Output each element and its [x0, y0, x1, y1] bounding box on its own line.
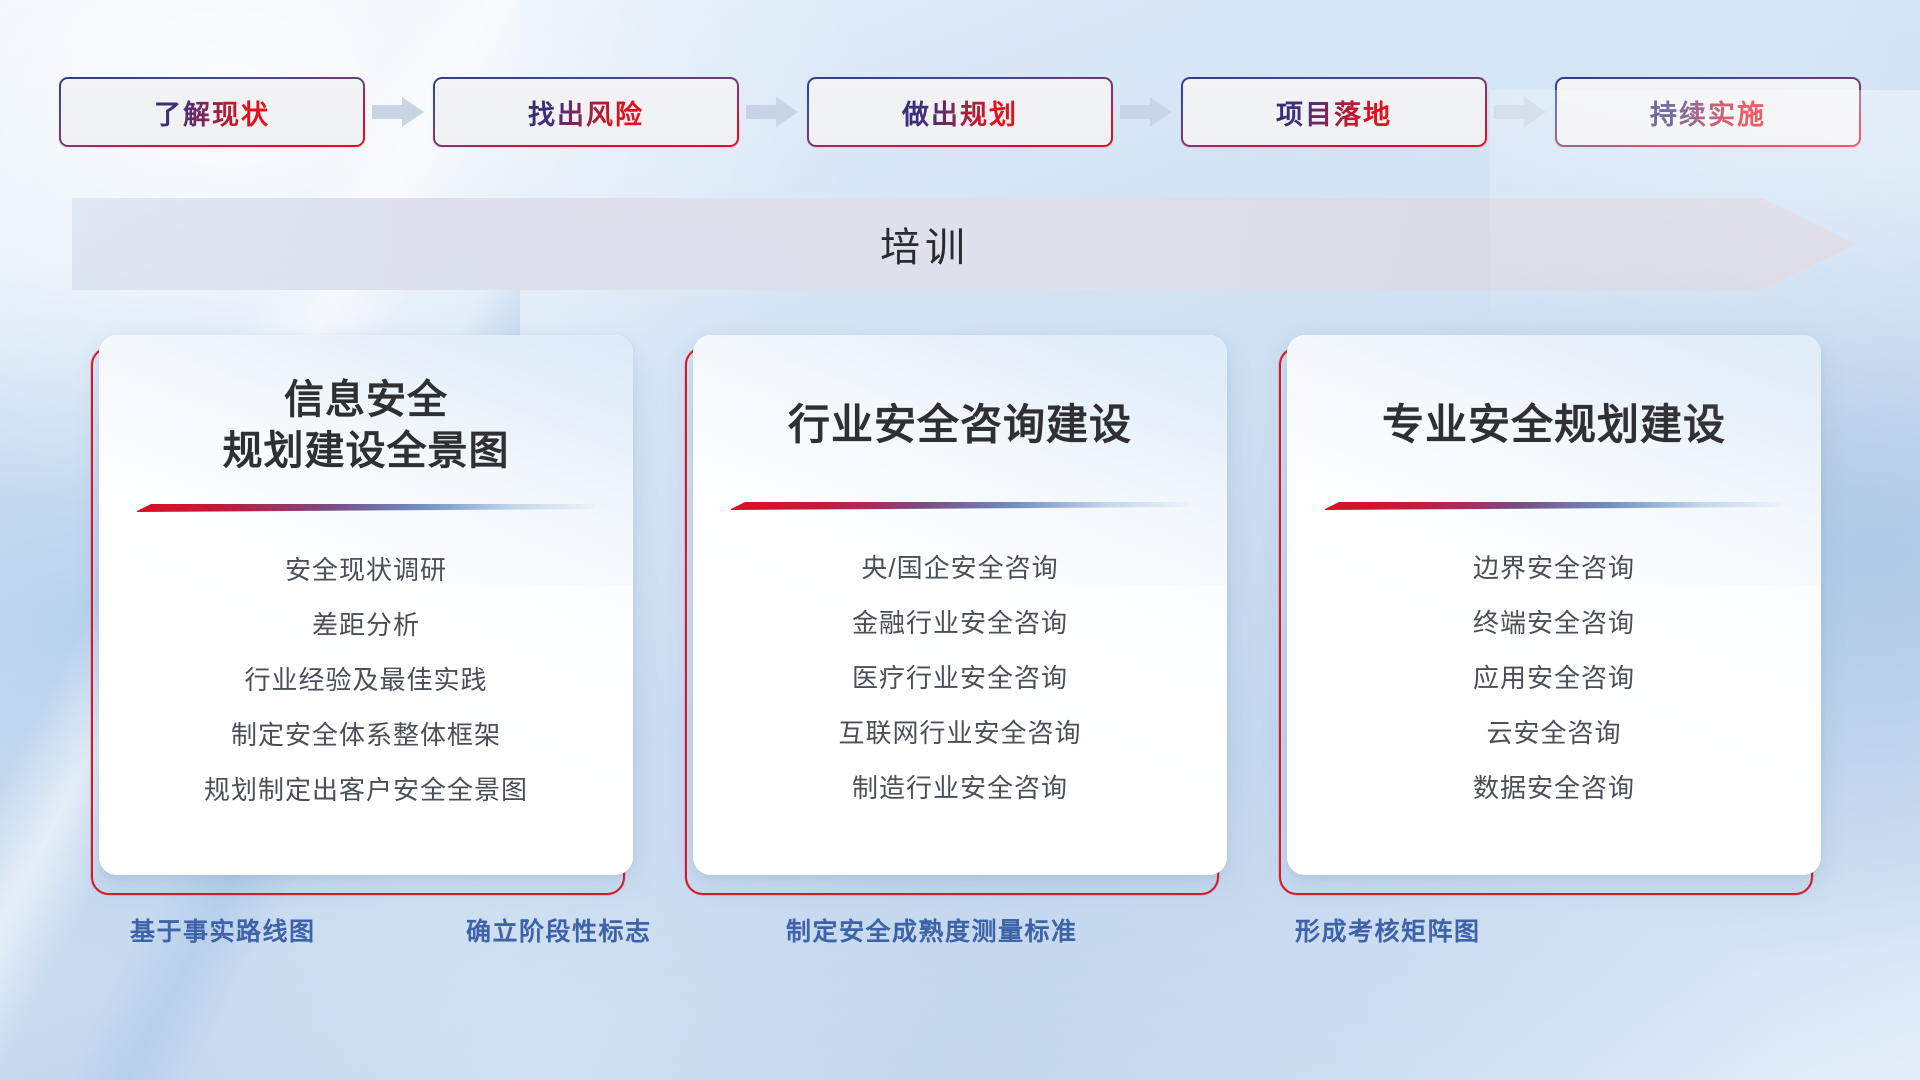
caption-roadmap: 基于事实路线图: [130, 912, 316, 948]
card-slot-1: 信息安全 规划建设全景图: [99, 335, 633, 875]
slide-canvas: 了解现状 找出风险 做出规划 项目落地: [0, 0, 1920, 1080]
card-divider: [1325, 501, 1783, 510]
process-step-4[interactable]: 项目落地: [1181, 77, 1487, 147]
card-title: 信息安全 规划建设全景图: [133, 335, 599, 477]
caption-maturity-standard: 制定安全成熟度测量标准: [786, 912, 1078, 948]
list-item[interactable]: 终端安全咨询: [1321, 603, 1787, 640]
arrow-right-icon: [1120, 95, 1174, 129]
process-step-label: 了解现状: [154, 93, 270, 132]
list-item[interactable]: 互联网行业安全咨询: [727, 713, 1193, 750]
list-item[interactable]: 制定安全体系整体框架: [133, 715, 599, 752]
process-step-label: 找出风险: [528, 93, 644, 132]
process-step-5[interactable]: 持续实施: [1555, 77, 1861, 147]
card-divider: [137, 503, 595, 512]
step-wrapper-1: 找出风险: [433, 77, 807, 147]
card-title: 专业安全规划建设: [1321, 335, 1787, 475]
caption-row: 基于事实路线图 确立阶段性标志 制定安全成熟度测量标准 形成考核矩阵图: [0, 912, 1920, 962]
process-step-3[interactable]: 做出规划: [807, 77, 1113, 147]
process-step-2[interactable]: 找出风险: [433, 77, 739, 147]
caption-assessment-matrix: 形成考核矩阵图: [1295, 912, 1481, 948]
training-banner-label: 培训: [72, 192, 1856, 296]
process-step-label: 项目落地: [1276, 93, 1392, 132]
list-item[interactable]: 差距分析: [133, 605, 599, 642]
list-item[interactable]: 规划制定出客户安全全景图: [133, 770, 599, 807]
card-title-line: 行业安全咨询建设: [727, 398, 1193, 452]
step-wrapper-2: 做出规划: [807, 77, 1181, 147]
process-step-label: 持续实施: [1650, 93, 1766, 132]
card-row: 信息安全 规划建设全景图: [0, 335, 1920, 875]
list-item[interactable]: 央/国企安全咨询: [727, 548, 1193, 585]
list-item[interactable]: 应用安全咨询: [1321, 658, 1787, 695]
card-industry-security-consulting[interactable]: 行业安全咨询建设: [693, 335, 1227, 875]
card-title-line: 规划建设全景图: [133, 426, 599, 477]
list-item[interactable]: 制造行业安全咨询: [727, 768, 1193, 805]
card-information-security-blueprint[interactable]: 信息安全 规划建设全景图: [99, 335, 633, 875]
process-step-label: 做出规划: [902, 93, 1018, 132]
list-item[interactable]: 安全现状调研: [133, 550, 599, 587]
step-wrapper-3: 项目落地: [1181, 77, 1555, 147]
card-title-line: 信息安全: [133, 375, 599, 426]
process-step-1[interactable]: 了解现状: [59, 77, 365, 147]
card-professional-security-planning[interactable]: 专业安全规划建设: [1287, 335, 1821, 875]
list-item[interactable]: 行业经验及最佳实践: [133, 660, 599, 697]
training-banner: 培训: [72, 192, 1856, 296]
card-title: 行业安全咨询建设: [727, 335, 1193, 475]
list-item[interactable]: 云安全咨询: [1321, 713, 1787, 750]
process-steps: 了解现状 找出风险 做出规划 项目落地: [0, 76, 1920, 148]
card-divider: [731, 501, 1189, 510]
card-item-list: 央/国企安全咨询 金融行业安全咨询 医疗行业安全咨询 互联网行业安全咨询 制造行…: [727, 548, 1193, 805]
step-wrapper-4: 持续实施: [1555, 77, 1861, 147]
arrow-right-icon: [746, 95, 800, 129]
card-item-list: 边界安全咨询 终端安全咨询 应用安全咨询 云安全咨询 数据安全咨询: [1321, 548, 1787, 805]
list-item[interactable]: 边界安全咨询: [1321, 548, 1787, 585]
list-item[interactable]: 医疗行业安全咨询: [727, 658, 1193, 695]
card-item-list: 安全现状调研 差距分析 行业经验及最佳实践 制定安全体系整体框架 规划制定出客户…: [133, 550, 599, 807]
arrow-right-icon: [1494, 95, 1548, 129]
caption-milestones: 确立阶段性标志: [466, 912, 652, 948]
card-slot-2: 行业安全咨询建设: [693, 335, 1227, 875]
arrow-right-icon: [372, 95, 426, 129]
card-slot-3: 专业安全规划建设: [1287, 335, 1821, 875]
list-item[interactable]: 数据安全咨询: [1321, 768, 1787, 805]
step-wrapper-0: 了解现状: [59, 77, 433, 147]
card-title-line: 专业安全规划建设: [1321, 398, 1787, 452]
list-item[interactable]: 金融行业安全咨询: [727, 603, 1193, 640]
